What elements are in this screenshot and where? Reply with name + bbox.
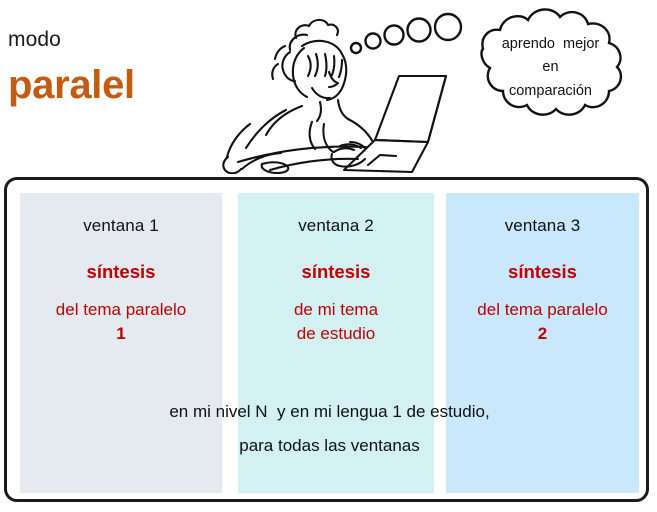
parallel-mode-panel: ventana 1 síntesis del tema paralelo 1 v… [4,177,649,502]
synthesis-detail-1-line-1: del tema paralelo [20,298,222,322]
title-block: modo paralel [8,28,218,108]
window-column-1[interactable]: ventana 1 síntesis del tema paralelo 1 [20,193,222,493]
mode-name: paralel [8,63,218,108]
synthesis-title-3: síntesis [446,261,639,283]
window-label-3: ventana 3 [446,216,639,236]
header-area: modo paralel [0,0,657,176]
synthesis-detail-2-line-2: de estudio [238,322,434,346]
synthesis-title-1: síntesis [20,261,222,283]
bubble-line-1: aprendo mejor [463,33,638,56]
window-label-1: ventana 1 [20,216,222,236]
synthesis-detail-3-line-2: 2 [446,322,639,346]
window-column-2[interactable]: ventana 2 síntesis de mi tema de estudio [238,193,434,493]
synthesis-detail-2: de mi tema de estudio [238,298,434,346]
bubble-line-3: comparación [463,80,638,103]
window-column-2-content: ventana 2 síntesis de mi tema de estudio [238,216,434,346]
bubble-line-2: en [463,56,638,79]
thought-bubble-text: aprendo mejor en comparación [463,33,638,103]
synthesis-detail-1: del tema paralelo 1 [20,298,222,346]
window-column-3[interactable]: ventana 3 síntesis del tema paralelo 2 [446,193,639,493]
window-label-2: ventana 2 [238,216,434,236]
synthesis-detail-3: del tema paralelo 2 [446,298,639,346]
window-column-1-content: ventana 1 síntesis del tema paralelo 1 [20,216,222,346]
window-column-3-content: ventana 3 síntesis del tema paralelo 2 [446,216,639,346]
synthesis-title-2: síntesis [238,261,434,283]
mode-label: modo [8,28,218,51]
synthesis-detail-3-line-1: del tema paralelo [446,298,639,322]
synthesis-detail-1-line-2: 1 [20,322,222,346]
synthesis-detail-2-line-1: de mi tema [238,298,434,322]
